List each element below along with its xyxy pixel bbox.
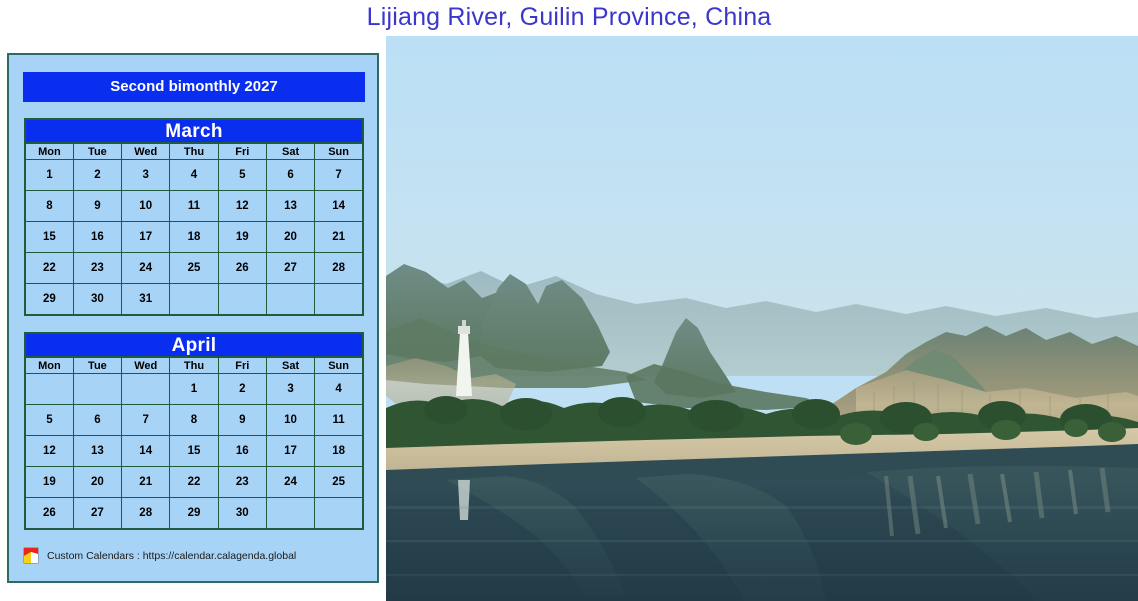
week-row: 12 13 14 15 16 17 18 [25,436,363,467]
page-title: Lijiang River, Guilin Province, China [0,0,1138,36]
day-cell[interactable]: 29 [25,284,73,316]
day-cell[interactable]: 29 [170,498,218,530]
day-cell[interactable]: 2 [218,374,266,405]
day-cell[interactable]: 3 [122,160,170,191]
day-cell[interactable]: 26 [25,498,73,530]
week-row: 29 30 31 [25,284,363,316]
day-cell[interactable]: 15 [170,436,218,467]
day-cell[interactable]: 6 [73,405,121,436]
week-row: 26 27 28 29 30 [25,498,363,530]
weekday-sun: Sun [315,357,363,374]
day-cell-empty [266,498,314,530]
weekday-sat: Sat [266,143,314,160]
day-cell-empty [266,284,314,316]
day-cell[interactable]: 20 [73,467,121,498]
day-cell[interactable]: 5 [25,405,73,436]
calendar-logo-icon [23,547,40,564]
day-cell[interactable]: 21 [315,222,363,253]
panel-footer: Custom Calendars : https://calendar.cala… [23,547,296,564]
day-cell[interactable]: 22 [170,467,218,498]
week-row: 22 23 24 25 26 27 28 [25,253,363,284]
day-cell[interactable]: 6 [266,160,314,191]
day-cell[interactable]: 17 [122,222,170,253]
day-cell[interactable]: 1 [170,374,218,405]
day-cell[interactable]: 21 [122,467,170,498]
tower-reflection [458,480,470,520]
day-cell[interactable]: 25 [170,253,218,284]
day-cell[interactable]: 18 [315,436,363,467]
day-cell-empty [218,284,266,316]
day-cell[interactable]: 12 [218,191,266,222]
day-cell[interactable]: 24 [122,253,170,284]
week-row: 15 16 17 18 19 20 21 [25,222,363,253]
day-cell[interactable]: 22 [25,253,73,284]
day-cell[interactable]: 9 [218,405,266,436]
photo-illustration [386,36,1138,601]
day-cell[interactable]: 20 [266,222,314,253]
photo-lijiang-river [386,36,1138,601]
weekday-header-row: Mon Tue Wed Thu Fri Sat Sun [25,143,363,160]
day-cell[interactable]: 17 [266,436,314,467]
calendar-panel: Second bimonthly 2027 March Mon Tue Wed … [7,53,379,583]
day-cell[interactable]: 12 [25,436,73,467]
day-cell[interactable]: 31 [122,284,170,316]
week-row: 1 2 3 4 5 6 7 [25,160,363,191]
day-cell[interactable]: 16 [218,436,266,467]
day-cell[interactable]: 10 [266,405,314,436]
footer-text[interactable]: Custom Calendars : https://calendar.cala… [47,550,296,562]
weekday-fri: Fri [218,357,266,374]
period-header: Second bimonthly 2027 [23,72,365,102]
day-cell[interactable]: 7 [122,405,170,436]
day-cell[interactable]: 27 [266,253,314,284]
day-cell[interactable]: 18 [170,222,218,253]
weekday-tue: Tue [73,357,121,374]
day-cell[interactable]: 26 [218,253,266,284]
day-cell[interactable]: 8 [170,405,218,436]
day-cell[interactable]: 16 [73,222,121,253]
week-row: 5 6 7 8 9 10 11 [25,405,363,436]
day-cell-empty [25,374,73,405]
month-block-march: March Mon Tue Wed Thu Fri Sat Sun 1 2 3 [24,118,364,316]
day-cell[interactable]: 8 [25,191,73,222]
day-cell[interactable]: 30 [73,284,121,316]
weekday-tue: Tue [73,143,121,160]
weekday-sun: Sun [315,143,363,160]
day-cell[interactable]: 19 [25,467,73,498]
day-cell[interactable]: 11 [315,405,363,436]
day-cell[interactable]: 28 [122,498,170,530]
day-cell-empty [315,284,363,316]
day-cell[interactable]: 5 [218,160,266,191]
week-row: 8 9 10 11 12 13 14 [25,191,363,222]
day-cell[interactable]: 14 [122,436,170,467]
day-cell[interactable]: 1 [25,160,73,191]
month-grid-march: Mon Tue Wed Thu Fri Sat Sun 1 2 3 4 5 6 [24,142,364,316]
weekday-thu: Thu [170,357,218,374]
day-cell-empty [170,284,218,316]
month-title-march: March [24,118,364,142]
day-cell[interactable]: 19 [218,222,266,253]
day-cell-empty [73,374,121,405]
day-cell[interactable]: 13 [73,436,121,467]
month-block-april: April Mon Tue Wed Thu Fri Sat Sun [24,332,364,530]
day-cell[interactable]: 23 [73,253,121,284]
month-title-april: April [24,332,364,356]
day-cell[interactable]: 13 [266,191,314,222]
day-cell[interactable]: 7 [315,160,363,191]
weekday-header-row: Mon Tue Wed Thu Fri Sat Sun [25,357,363,374]
day-cell[interactable]: 14 [315,191,363,222]
white-tower [456,320,472,396]
day-cell-empty [122,374,170,405]
weekday-wed: Wed [122,143,170,160]
day-cell[interactable]: 4 [315,374,363,405]
day-cell[interactable]: 11 [170,191,218,222]
weekday-sat: Sat [266,357,314,374]
day-cell[interactable]: 15 [25,222,73,253]
day-cell[interactable]: 28 [315,253,363,284]
weekday-wed: Wed [122,357,170,374]
day-cell[interactable]: 24 [266,467,314,498]
day-cell[interactable]: 4 [170,160,218,191]
week-row: 19 20 21 22 23 24 25 [25,467,363,498]
day-cell[interactable]: 30 [218,498,266,530]
day-cell[interactable]: 3 [266,374,314,405]
month-grid-april: Mon Tue Wed Thu Fri Sat Sun 1 2 3 4 [24,356,364,530]
day-cell[interactable]: 27 [73,498,121,530]
day-cell[interactable]: 9 [73,191,121,222]
day-cell[interactable]: 23 [218,467,266,498]
day-cell-empty [315,498,363,530]
week-row: 1 2 3 4 [25,374,363,405]
weekday-mon: Mon [25,143,73,160]
weekday-fri: Fri [218,143,266,160]
day-cell[interactable]: 10 [122,191,170,222]
day-cell[interactable]: 2 [73,160,121,191]
weekday-thu: Thu [170,143,218,160]
weekday-mon: Mon [25,357,73,374]
day-cell[interactable]: 25 [315,467,363,498]
